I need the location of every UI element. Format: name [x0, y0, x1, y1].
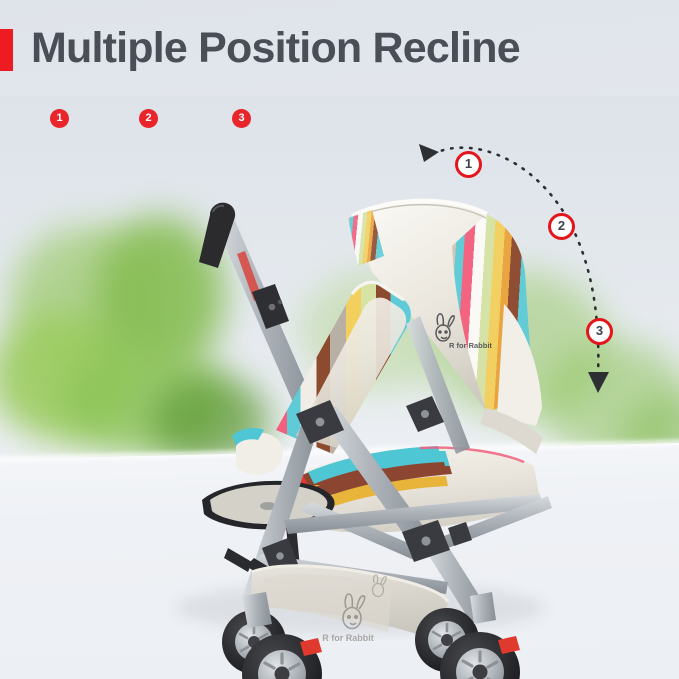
recline-marker-2: 2: [548, 213, 575, 240]
red-accent-bar: [0, 29, 13, 71]
page-title: Multiple Position Recline: [31, 24, 520, 73]
header: Multiple Position Recline: [0, 0, 679, 96]
step-badge-3: 3: [232, 109, 251, 128]
recline-markers: 1 2 3: [0, 96, 679, 679]
product-feature-banner: Multiple Position Recline 1: [0, 0, 679, 679]
step-badge-2: 2: [139, 109, 158, 128]
recline-marker-1: 1: [455, 151, 482, 178]
step-badge-1: 1: [50, 109, 69, 128]
recline-marker-3: 3: [586, 318, 613, 345]
product-photo: R for Rabbit: [0, 96, 679, 679]
